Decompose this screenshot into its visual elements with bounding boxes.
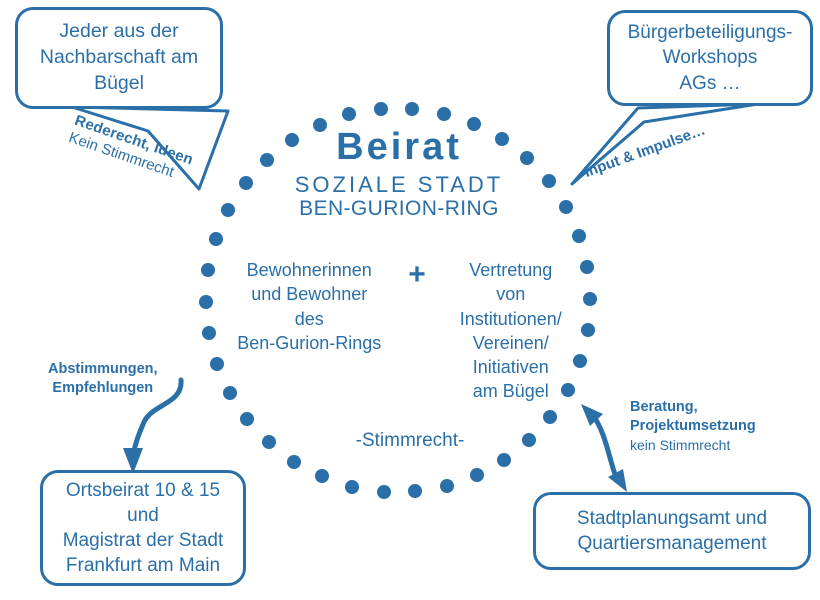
centre-title-block: Beirat SOZIALE STADT BEN-GURION-RING: [228, 128, 570, 221]
subtitle-soziale-stadt: SOZIALE STADT: [228, 172, 570, 197]
caption-beratung-bold: Beratung,Projektumsetzung: [630, 398, 756, 436]
box-stadtplanungsamt-text: Stadtplanungsamt undQuartiersmanagement: [536, 506, 808, 556]
box-ortsbeirat-text: Ortsbeirat 10 & 15undMagistrat der Stadt…: [43, 478, 243, 578]
column-institutions: VertretungvonInstitutionen/Vereinen/Init…: [436, 258, 586, 404]
column-residents: Bewohnerinnenund BewohnerdesBen-Gurion-R…: [220, 258, 398, 355]
arrowhead-beratung-down: [608, 469, 627, 492]
plus-icon: +: [398, 258, 436, 290]
box-ortsbeirat: Ortsbeirat 10 & 15undMagistrat der Stadt…: [40, 470, 246, 586]
bubble-neighbourhood: Jeder aus derNachbarschaft amBügel: [15, 7, 223, 109]
membership-columns: Bewohnerinnenund BewohnerdesBen-Gurion-R…: [208, 258, 598, 404]
bubble-participation-text: Bürgerbeteiligungs-WorkshopsAGs …: [610, 20, 810, 95]
bubble-participation: Bürgerbeteiligungs-WorkshopsAGs …: [607, 10, 813, 106]
caption-beratung: Beratung,Projektumsetzung kein Stimmrech…: [630, 398, 756, 454]
caption-abstimmungen: Abstimmungen,Empfehlungen: [48, 360, 158, 398]
page-title: Beirat: [228, 128, 570, 168]
diagram-canvas: Beirat SOZIALE STADT BEN-GURION-RING Bew…: [0, 0, 820, 600]
caption-beratung-normal: kein Stimmrecht: [630, 436, 756, 454]
bubble-neighbourhood-text: Jeder aus derNachbarschaft amBügel: [18, 19, 220, 96]
subtitle-ben-gurion-ring: BEN-GURION-RING: [228, 197, 570, 221]
box-stadtplanungsamt: Stadtplanungsamt undQuartiersmanagement: [533, 492, 811, 570]
